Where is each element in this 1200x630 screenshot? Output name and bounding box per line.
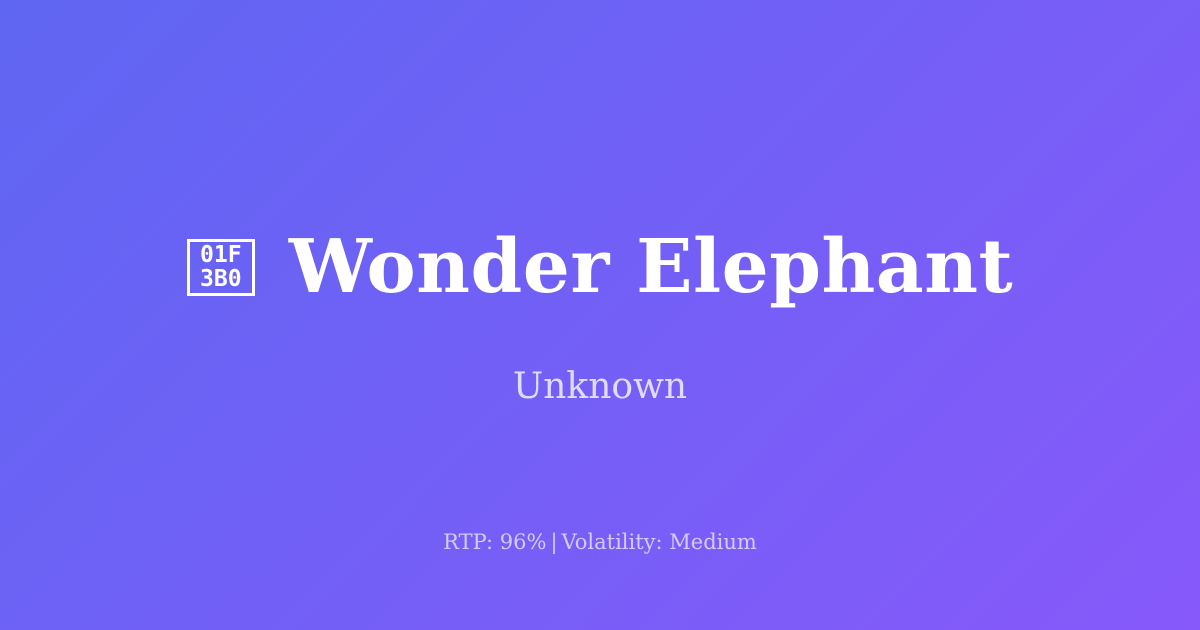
provider-label: Unknown [0,362,1200,412]
page-title: Wonder Elephant [289,230,1013,304]
volatility-stat: Volatility: Medium [562,530,757,554]
tofu-codepoint-line1: 01F [200,243,242,267]
slot-machine-icon: 01F 3B0 [187,239,255,296]
stats-separator: | [546,530,561,554]
og-preview-card: 01F 3B0 Wonder Elephant Unknown RTP: 96%… [0,0,1200,630]
game-stats: RTP: 96%|Volatility: Medium [0,527,1200,557]
tofu-codepoint-line2: 3B0 [200,267,242,291]
rtp-stat: RTP: 96% [443,530,546,554]
